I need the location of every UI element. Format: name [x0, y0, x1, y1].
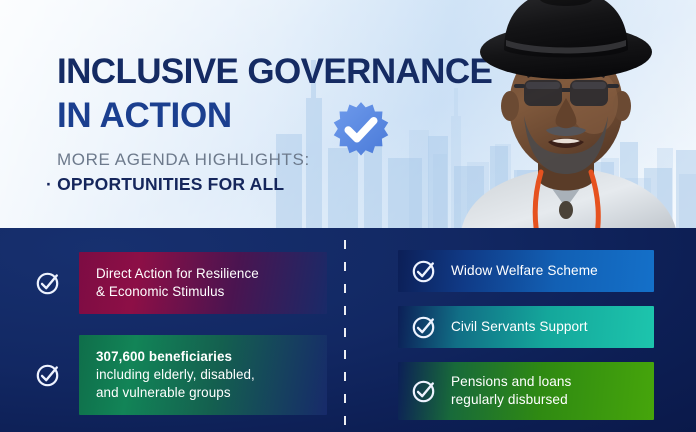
highlight-card-resilience[interactable]: Direct Action for Resilience & Economic …	[79, 252, 327, 314]
man-in-black-fedora-hat-portrait	[442, 0, 690, 228]
check-circle-icon	[410, 258, 437, 285]
highlight-card-text: Civil Servants Support	[451, 318, 588, 336]
highlight-card-civil-servants[interactable]: Civil Servants Support	[398, 306, 654, 348]
highlight-line: Direct Action for Resilience	[96, 266, 259, 281]
highlight-card-text: Widow Welfare Scheme	[451, 262, 598, 280]
highlight-line-bold: 307,600 beneficiaries	[96, 349, 232, 364]
header-banner: INCLUSIVE GOVERNANCE IN ACTION MORE AGEN…	[0, 0, 696, 228]
highlight-card-text: Pensions and loans regularly disbursed	[451, 373, 571, 408]
right-highlights-column: Widow Welfare Scheme Civil Servants Supp…	[344, 228, 696, 432]
portrait-photo	[442, 0, 690, 228]
highlight-line: regularly disbursed	[451, 392, 568, 407]
highlight-line: Pensions and loans	[451, 374, 571, 389]
check-circle-icon	[34, 362, 61, 389]
check-circle-icon	[410, 314, 437, 341]
left-highlights-column: Direct Action for Resilience & Economic …	[0, 228, 344, 432]
list-item[interactable]: Direct Action for Resilience & Economic …	[34, 252, 327, 314]
highlight-card-pensions[interactable]: Pensions and loans regularly disbursed	[398, 362, 654, 420]
check-circle-icon	[34, 270, 61, 297]
list-item[interactable]: 307,600 beneficiaries including elderly,…	[34, 335, 327, 415]
highlight-card-text: 307,600 beneficiaries including elderly,…	[96, 348, 255, 401]
verified-check-badge-icon	[332, 101, 390, 159]
highlight-line: & Economic Stimulus	[96, 284, 224, 299]
highlight-line: including elderly, disabled,	[96, 367, 255, 382]
page-title-line2: IN ACTION	[57, 98, 232, 133]
infographic-slide: INCLUSIVE GOVERNANCE IN ACTION MORE AGEN…	[0, 0, 696, 432]
subheading-label: MORE AGENDA HIGHLIGHTS:	[57, 151, 310, 168]
highlight-card-beneficiaries[interactable]: 307,600 beneficiaries including elderly,…	[79, 335, 327, 415]
highlight-card-text: Direct Action for Resilience & Economic …	[96, 265, 259, 300]
highlight-card-widow-welfare[interactable]: Widow Welfare Scheme	[398, 250, 654, 292]
highlight-line: and vulnerable groups	[96, 385, 231, 400]
subheading-bullet-label: · OPPORTUNITIES FOR ALL	[46, 176, 284, 194]
check-circle-icon	[410, 378, 437, 405]
page-title-line1: INCLUSIVE GOVERNANCE	[57, 54, 492, 89]
